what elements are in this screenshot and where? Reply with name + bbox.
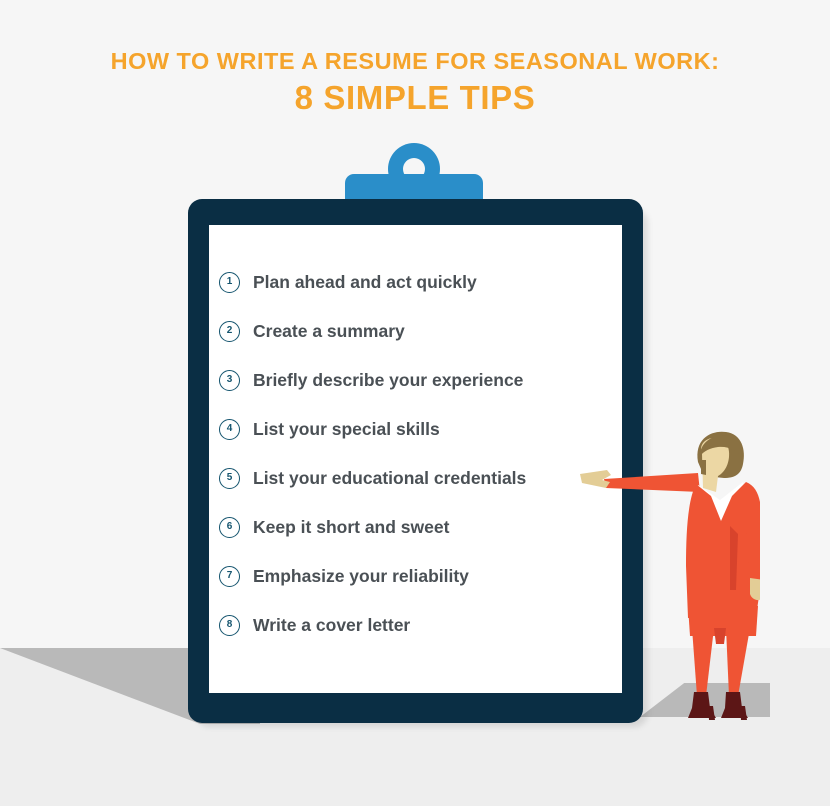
infographic-canvas: HOW TO WRITE A RESUME FOR SEASONAL WORK:… [0,0,830,806]
right-leg [726,628,750,696]
list-item: 1 Plan ahead and act quickly [219,258,619,307]
pointing-arm [604,473,700,492]
tip-number-badge: 8 [219,615,240,636]
tip-label: List your special skills [253,419,440,440]
tip-label: Keep it short and sweet [253,517,449,538]
tip-label: Create a summary [253,321,405,342]
tip-label: List your educational credentials [253,468,526,489]
title-line-2: 8 SIMPLE TIPS [0,80,830,117]
leg-gap-shadow [714,628,726,644]
tip-number-badge: 1 [219,272,240,293]
left-heel [708,706,715,720]
list-item: 5 List your educational credentials [219,454,619,503]
tip-label: Plan ahead and act quickly [253,272,477,293]
title-line-1: HOW TO WRITE A RESUME FOR SEASONAL WORK: [0,48,830,74]
tip-number-badge: 4 [219,419,240,440]
tip-number-badge: 2 [219,321,240,342]
tip-label: Briefly describe your experience [253,370,523,391]
list-item: 3 Briefly describe your experience [219,356,619,405]
tip-label: Emphasize your reliability [253,566,469,587]
tip-number-badge: 3 [219,370,240,391]
list-item: 7 Emphasize your reliability [219,552,619,601]
right-hand [750,578,760,600]
tip-number-badge: 5 [219,468,240,489]
tips-list: 1 Plan ahead and act quickly 2 Create a … [219,258,619,650]
sideburn [701,460,706,475]
tip-number-badge: 6 [219,517,240,538]
left-leg [692,628,714,696]
list-item: 4 List your special skills [219,405,619,454]
list-item: 8 Write a cover letter [219,601,619,650]
right-heel [740,706,747,720]
tip-label: Write a cover letter [253,615,410,636]
list-item: 6 Keep it short and sweet [219,503,619,552]
woman-pointing-illustration [580,430,760,725]
woman-figure-svg [580,430,760,725]
page-title: HOW TO WRITE A RESUME FOR SEASONAL WORK:… [0,48,830,117]
tip-number-badge: 7 [219,566,240,587]
list-item: 2 Create a summary [219,307,619,356]
